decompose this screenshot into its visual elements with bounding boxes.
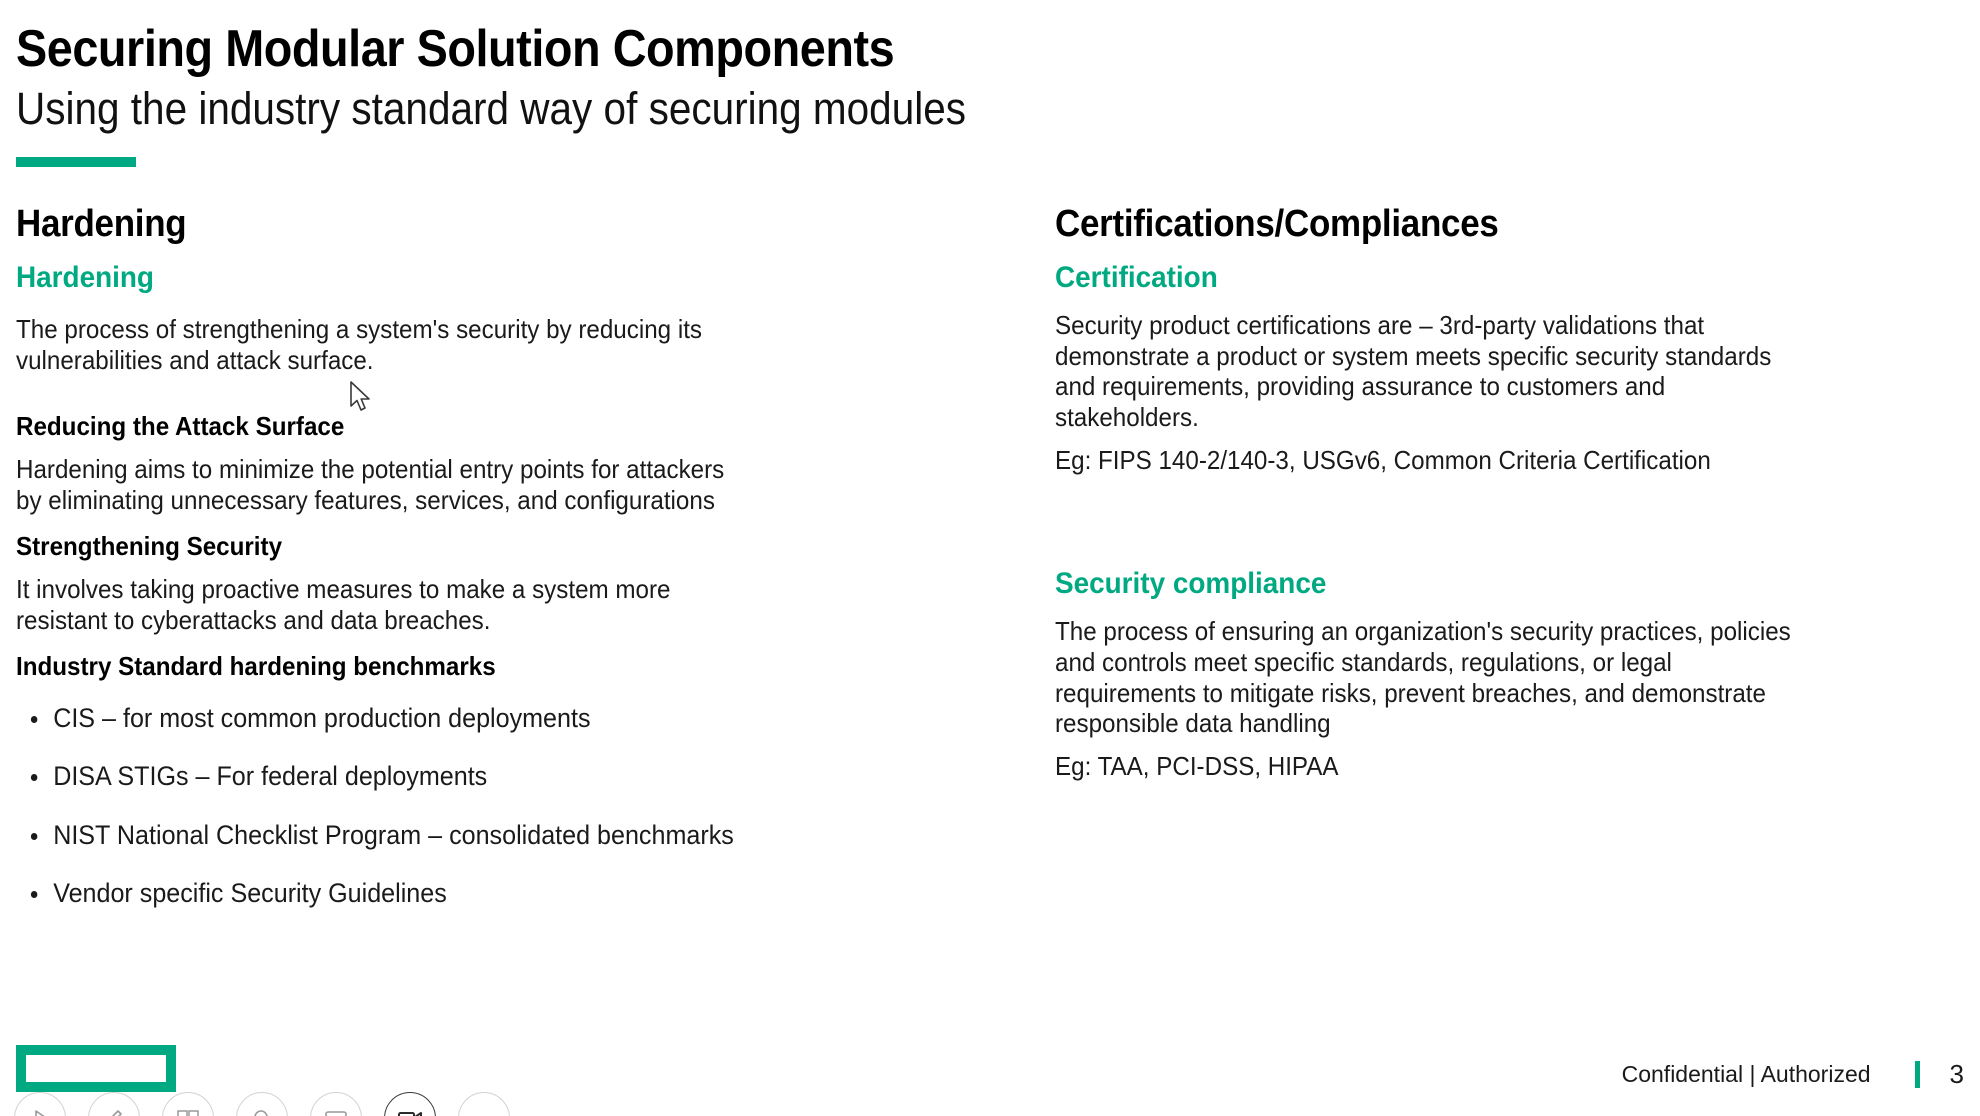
list-item: Vendor specific Security Guidelines	[16, 877, 909, 909]
page-title: Securing Modular Solution Components	[16, 22, 1726, 77]
page-number: 3	[1950, 1059, 1964, 1090]
slide-thumbnails-button[interactable]	[162, 1092, 214, 1116]
pointer-laser-button[interactable]	[14, 1092, 66, 1116]
more-options-button[interactable]	[458, 1092, 510, 1116]
text-line: by eliminating unnecessary features, ser…	[16, 485, 909, 516]
text-line: resistant to cyberattacks and data breac…	[16, 605, 909, 636]
text-line: demonstrate a product or system meets sp…	[1055, 341, 1915, 372]
page-subtitle: Using the industry standard way of secur…	[16, 84, 1726, 134]
text-line: The process of strengthening a system's …	[16, 314, 909, 345]
subtitles-icon	[324, 1109, 348, 1116]
text-line: Hardening aims to minimize the potential…	[16, 454, 909, 485]
footer-divider	[1915, 1061, 1920, 1088]
text-line: The process of ensuring an organization'…	[1055, 616, 1915, 647]
camera-icon	[397, 1109, 423, 1116]
zoom-button[interactable]	[236, 1092, 288, 1116]
text-line: vulnerabilities and attack surface.	[16, 345, 909, 376]
title-block: Securing Modular Solution Components Usi…	[16, 22, 1916, 135]
compliance-definition: The process of ensuring an organization'…	[1055, 616, 1915, 739]
heading-strengthening-security: Strengthening Security	[16, 531, 909, 562]
left-column: Hardening Hardening The process of stren…	[16, 205, 976, 936]
hpe-logo	[16, 1045, 176, 1092]
right-column-heading: Certifications/Compliances	[1055, 205, 1906, 245]
strengthening-security-text: It involves taking proactive measures to…	[16, 574, 909, 635]
hardening-definition: The process of strengthening a system's …	[16, 314, 909, 375]
text-line: Security product certifications are – 3r…	[1055, 310, 1915, 341]
left-subheading-hardening: Hardening	[16, 261, 909, 294]
accent-rule	[16, 157, 136, 167]
heading-industry-benchmarks: Industry Standard hardening benchmarks	[16, 651, 909, 682]
right-column: Certifications/Compliances Certification…	[1055, 205, 1980, 782]
text-line: and controls meet specific standards, re…	[1055, 647, 1915, 678]
pen-button[interactable]	[88, 1092, 140, 1116]
text-line: Eg: TAA, PCI-DSS, HIPAA	[1055, 751, 1915, 782]
certification-examples: Eg: FIPS 140-2/140-3, USGv6, Common Crit…	[1055, 445, 1915, 476]
camera-button[interactable]	[384, 1092, 436, 1116]
subtitles-button[interactable]	[310, 1092, 362, 1116]
left-column-heading: Hardening	[16, 205, 899, 245]
list-item: CIS – for most common production deploym…	[16, 702, 909, 734]
list-item: DISA STIGs – For federal deployments	[16, 760, 909, 792]
presenter-toolbar[interactable]	[14, 1092, 510, 1116]
benchmark-bullet-list: CIS – for most common production deploym…	[16, 702, 976, 910]
zoom-icon	[251, 1107, 273, 1116]
text-line: responsible data handling	[1055, 708, 1915, 739]
slide-thumbnails-icon	[176, 1108, 200, 1116]
footer: Confidential | Authorized 3	[1622, 1059, 1964, 1090]
list-item: NIST National Checklist Program – consol…	[16, 819, 909, 851]
pointer-laser-icon	[29, 1107, 51, 1116]
certification-definition: Security product certifications are – 3r…	[1055, 310, 1915, 433]
text-line: requirements to mitigate risks, prevent …	[1055, 678, 1915, 709]
text-line: It involves taking proactive measures to…	[16, 574, 909, 605]
reducing-attack-surface-text: Hardening aims to minimize the potential…	[16, 454, 909, 515]
compliance-examples: Eg: TAA, PCI-DSS, HIPAA	[1055, 751, 1915, 782]
right-subheading-security-compliance: Security compliance	[1055, 567, 1915, 600]
text-line: and requirements, providing assurance to…	[1055, 371, 1915, 402]
heading-reducing-attack-surface: Reducing the Attack Surface	[16, 411, 909, 442]
classification-label: Confidential | Authorized	[1622, 1061, 1871, 1088]
text-line: stakeholders.	[1055, 402, 1915, 433]
slide-canvas: Securing Modular Solution Components Usi…	[0, 0, 1980, 1116]
text-line: Eg: FIPS 140-2/140-3, USGv6, Common Crit…	[1055, 445, 1915, 476]
pen-icon	[103, 1107, 125, 1116]
right-subheading-certification: Certification	[1055, 261, 1915, 294]
